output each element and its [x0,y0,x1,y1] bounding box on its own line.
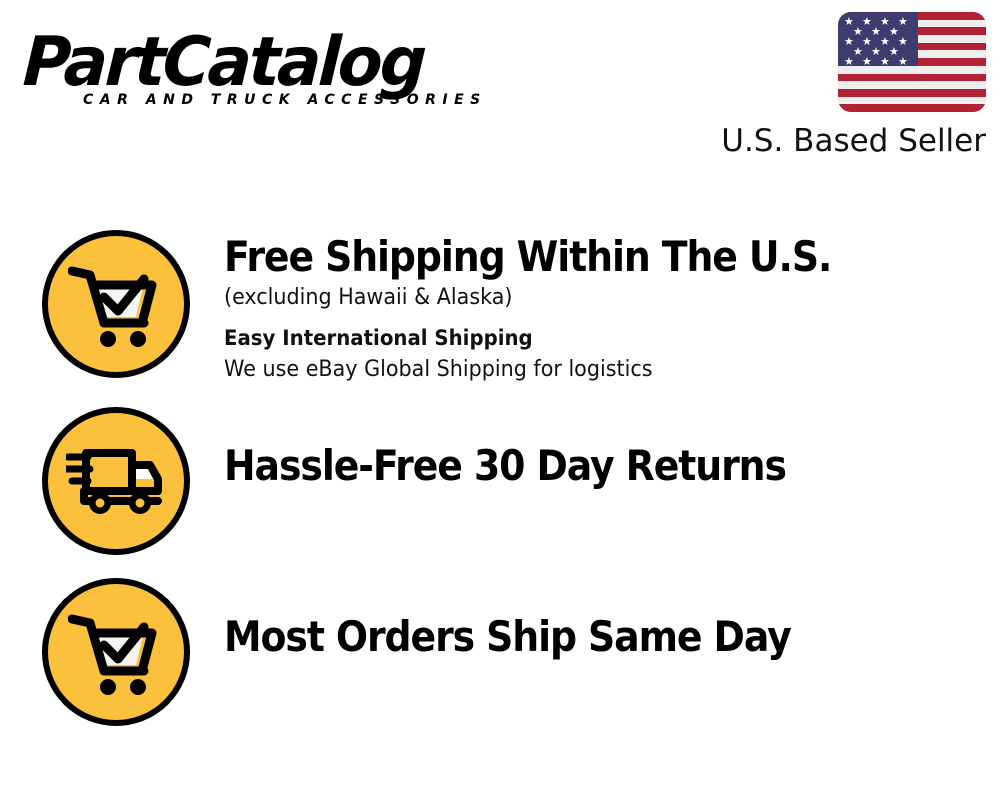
feature-text-block: Most Orders Ship Same Day [224,578,1000,662]
delivery-truck-icon [42,407,190,555]
shopping-cart-check-icon [42,578,190,726]
feature-secondary-title: Easy International Shipping [224,322,953,354]
us-based-seller-badge: ★ ★ ★ ★ ★ ★ ★ ★ ★ ★ ★ ★ ★ ★ ★ ★ ★ ★ U.S.… [686,12,986,159]
feature-subtitle: (excluding Hawaii & Alaska) [224,282,953,314]
brand-logo[interactable]: PartCatalog CAR AND TRUCK ACCESSORIES [25,28,495,120]
brand-wordmark: PartCatalog [21,28,476,98]
feature-row: Free Shipping Within The U.S. (excluding… [0,230,1000,386]
feature-title: Most Orders Ship Same Day [224,612,922,662]
us-based-seller-label: U.S. Based Seller [686,123,986,159]
feature-title: Free Shipping Within The U.S. [224,232,922,282]
flag-canton: ★ ★ ★ ★ ★ ★ ★ ★ ★ ★ ★ ★ ★ ★ ★ ★ ★ ★ [838,12,918,66]
feature-text-block: Free Shipping Within The U.S. (excluding… [224,230,1000,386]
feature-row: Hassle-Free 30 Day Returns [0,407,1000,555]
feature-row: Most Orders Ship Same Day [0,578,1000,726]
feature-text-block: Hassle-Free 30 Day Returns [224,407,1000,491]
shopping-cart-check-icon [42,230,190,378]
page-header: PartCatalog CAR AND TRUCK ACCESSORIES [0,0,1000,170]
us-flag-icon: ★ ★ ★ ★ ★ ★ ★ ★ ★ ★ ★ ★ ★ ★ ★ ★ ★ ★ [838,12,986,112]
feature-secondary-subtitle: We use eBay Global Shipping for logistic… [224,354,953,386]
feature-title: Hassle-Free 30 Day Returns [224,441,922,491]
brand-tagline: CAR AND TRUCK ACCESSORIES [83,92,487,108]
